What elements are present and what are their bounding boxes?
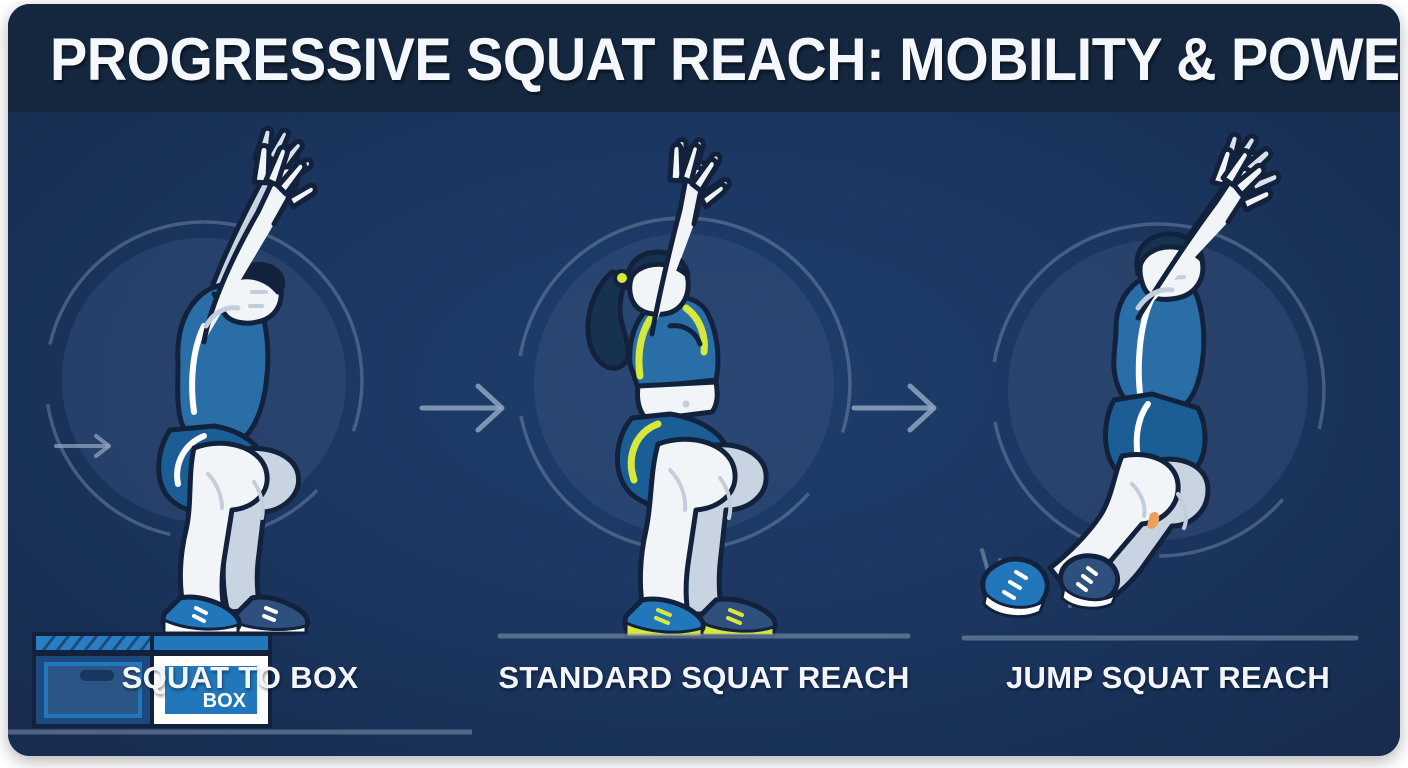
shoe-rear-icon	[1060, 556, 1117, 608]
connector-arrow-1-to-2	[416, 370, 526, 440]
shoe-front-icon	[983, 559, 1047, 617]
panel-squat-to-box[interactable]: BOX SQUAT TO BOX	[8, 112, 472, 756]
panels-area: BOX SQUAT TO BOX	[8, 112, 1400, 756]
infographic-card: PROGRESSIVE SQUAT REACH: MOBILITY & POWE…	[8, 4, 1400, 756]
caption-standard-squat-reach: STANDARD SQUAT REACH	[472, 660, 936, 696]
caption-squat-to-box: SQUAT TO BOX	[8, 660, 472, 696]
illustration-jump-squat-reach	[936, 112, 1400, 652]
shoe-rear-icon	[699, 599, 775, 636]
header-bar: PROGRESSIVE SQUAT REACH: MOBILITY & POWE…	[8, 4, 1400, 112]
shoe-rear-icon	[233, 597, 307, 633]
page-title: PROGRESSIVE SQUAT REACH: MOBILITY & POWE…	[50, 30, 1400, 90]
caption-jump-squat-reach: JUMP SQUAT REACH	[936, 660, 1400, 696]
connector-arrow-2-to-3	[848, 370, 958, 440]
illustration-squat-to-box: BOX	[8, 112, 472, 652]
panel-jump-squat-reach[interactable]: JUMP SQUAT REACH	[936, 112, 1400, 756]
